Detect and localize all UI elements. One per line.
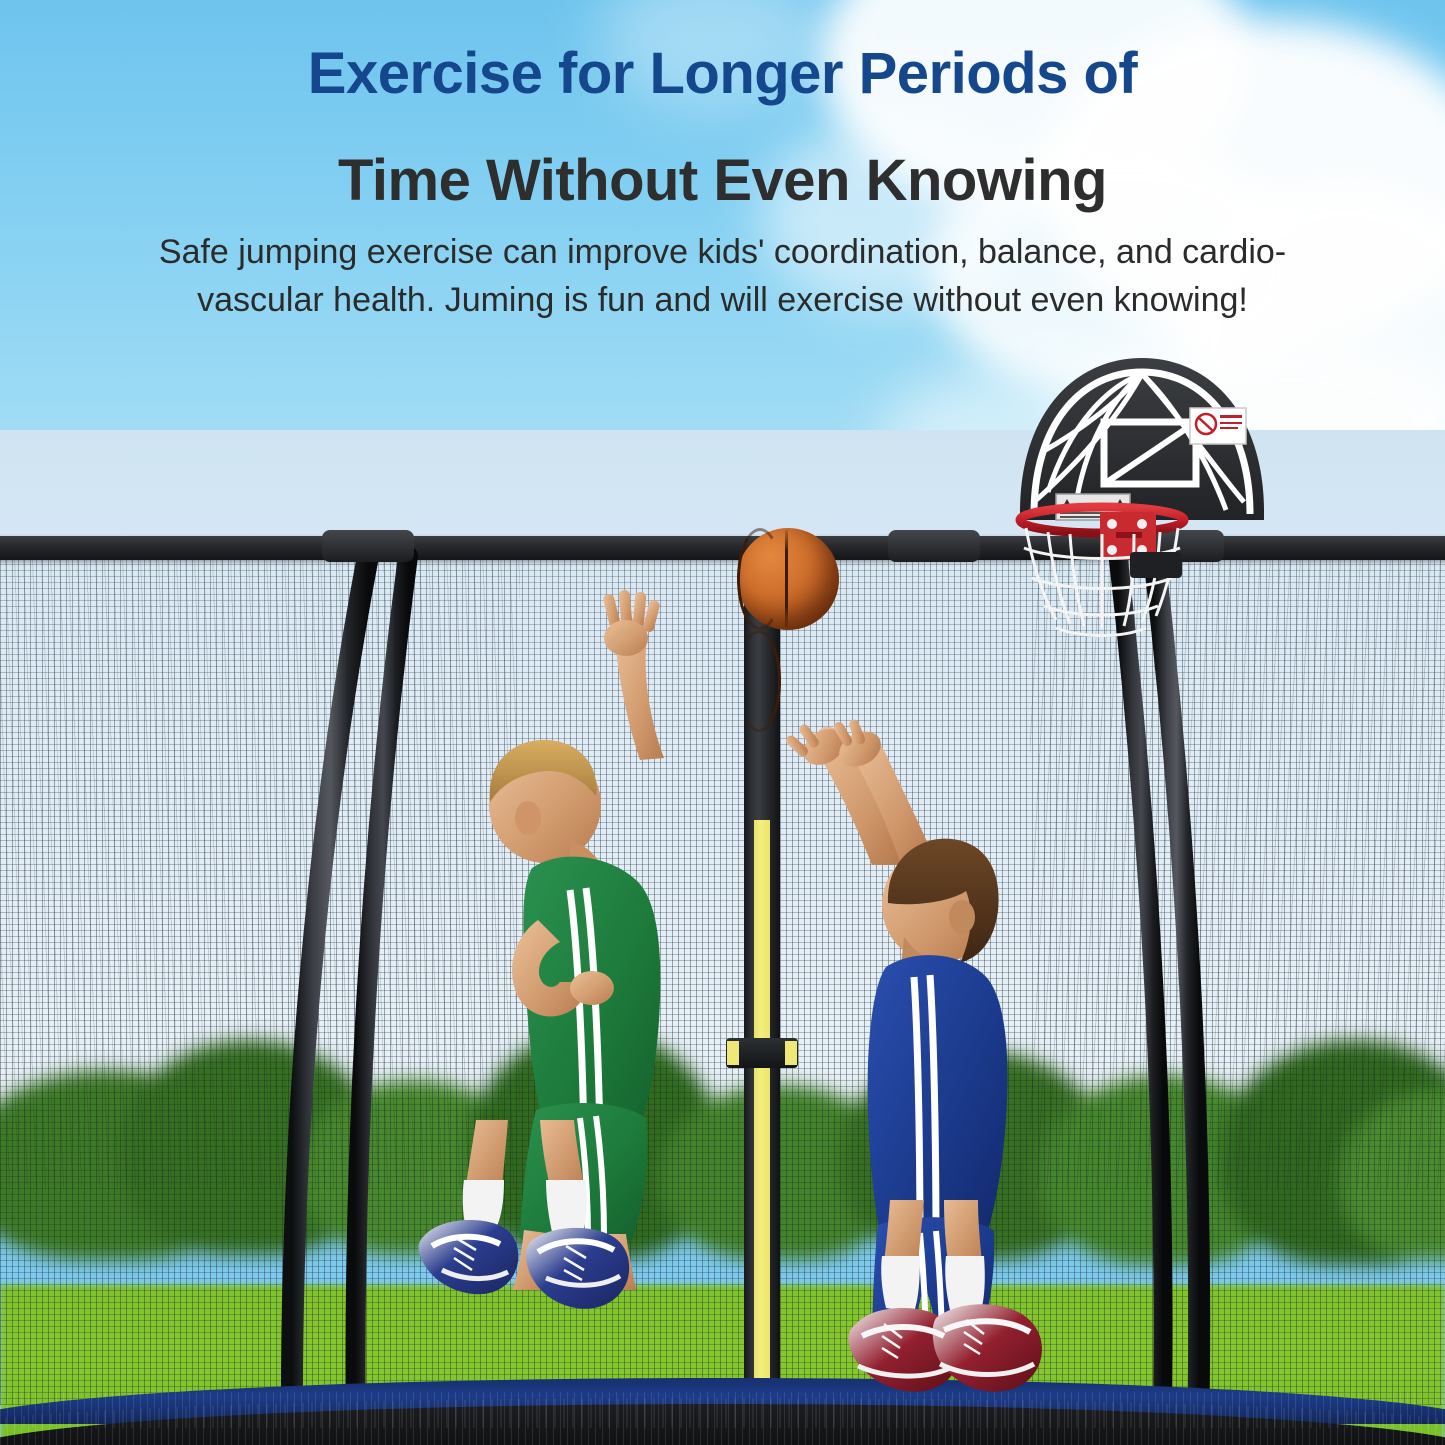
sock-left [881, 1256, 920, 1312]
basketball-seam [785, 530, 788, 628]
center-pole-yellow-stripe [754, 820, 770, 1420]
no-dunk-sticker [1190, 408, 1246, 444]
shin-right [944, 1200, 982, 1262]
boy-green-feet [380, 1120, 660, 1350]
hoop-net [1024, 528, 1180, 636]
subcopy-block: Safe jumping exercise can improve kids' … [0, 228, 1445, 325]
fist [570, 971, 614, 1005]
basketball-hoop [1012, 352, 1272, 642]
ear [949, 900, 975, 934]
sock-right [546, 1180, 587, 1236]
shoe-right [933, 1304, 1042, 1391]
subcopy-line-1: Safe jumping exercise can improve kids' … [40, 228, 1405, 276]
shin-right [540, 1120, 584, 1186]
shin-left [884, 1200, 924, 1262]
trampoline-mat-strands [0, 1392, 1445, 1445]
basketball-seam [737, 528, 783, 630]
hand-fingers [602, 590, 660, 656]
headline-line-1: Exercise for Longer Periods of [0, 44, 1445, 105]
rail-cap-left [322, 530, 414, 562]
hoop-mount-bracket [1130, 552, 1182, 578]
rail-cap-center [888, 530, 980, 562]
boy-blue-feet [840, 1200, 1080, 1430]
basketball [737, 528, 839, 630]
headline-line-2: Time Without Even Knowing [0, 105, 1445, 212]
subcopy-line-2: vascular health. Juming is fun and will … [40, 276, 1405, 324]
ear [515, 801, 541, 835]
shin-left [466, 1120, 508, 1186]
headline-block: Exercise for Longer Periods of Time With… [0, 44, 1445, 212]
product-lifestyle-image: Exercise for Longer Periods of Time With… [0, 0, 1445, 1445]
basketball-seam [737, 630, 781, 732]
